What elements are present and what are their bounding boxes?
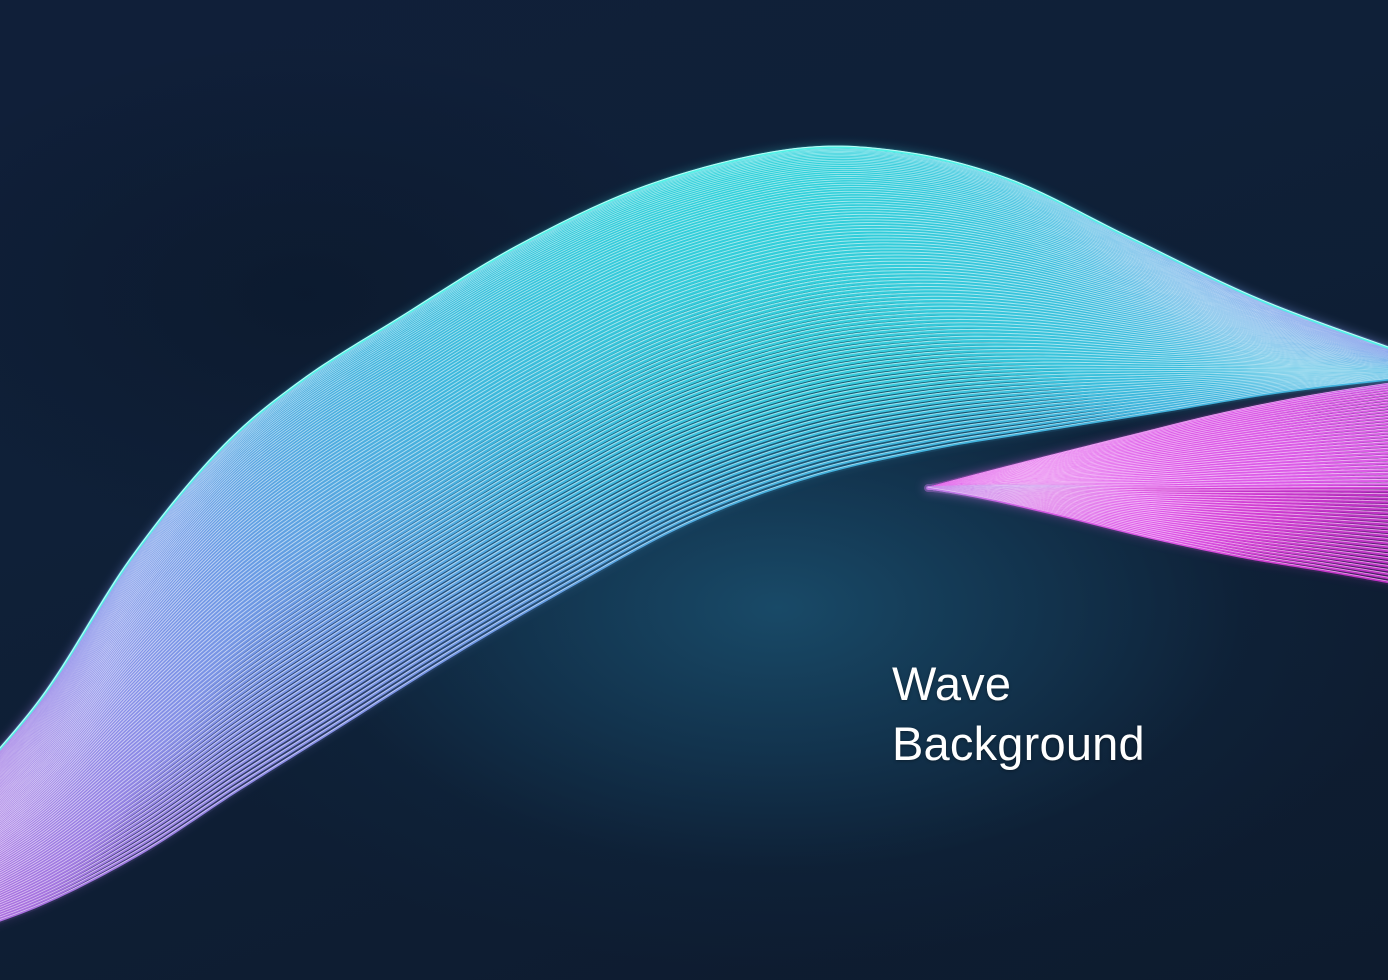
caption-line-1: Wave bbox=[892, 654, 1145, 714]
caption-block: Wave Background bbox=[892, 654, 1145, 774]
wave-background-canvas: Wave Background bbox=[0, 0, 1388, 980]
wave-graphic bbox=[0, 0, 1388, 980]
caption-line-2: Background bbox=[892, 714, 1145, 774]
